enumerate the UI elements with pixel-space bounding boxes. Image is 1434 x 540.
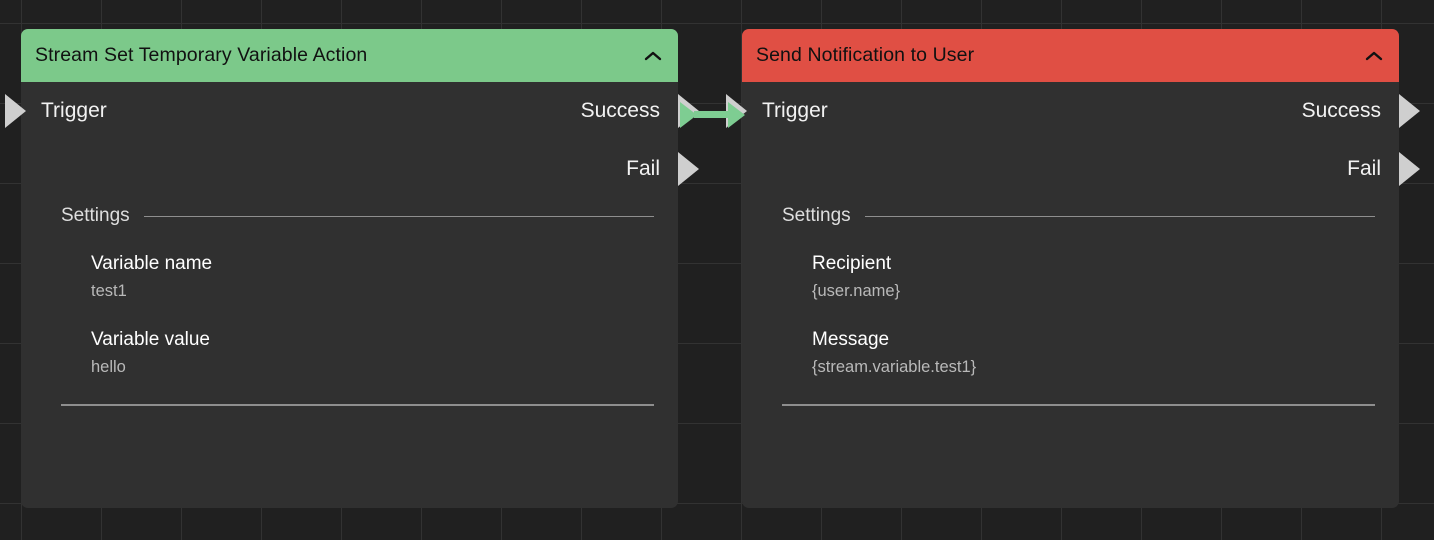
- field-label: Recipient: [812, 252, 1375, 276]
- input-port-label: Trigger: [21, 99, 107, 123]
- field-label: Variable name: [91, 252, 654, 276]
- field-value[interactable]: test1: [91, 281, 654, 302]
- node-title: Send Notification to User: [756, 44, 974, 67]
- field-value[interactable]: hello: [91, 357, 654, 378]
- settings-section-header: Settings: [21, 198, 678, 234]
- output-port-label: Success: [581, 99, 678, 123]
- chevron-up-icon[interactable]: [642, 45, 664, 67]
- divider: [144, 216, 654, 217]
- port-triangle-icon[interactable]: [678, 152, 699, 186]
- input-port-trigger[interactable]: Trigger: [21, 82, 107, 140]
- input-port-trigger[interactable]: Trigger: [742, 82, 828, 140]
- field-variable-value[interactable]: Variable value hello: [91, 328, 654, 378]
- output-port-label: Fail: [1347, 157, 1399, 181]
- settings-label: Settings: [782, 205, 851, 227]
- input-port-label: Trigger: [742, 99, 828, 123]
- port-triangle-icon[interactable]: [5, 94, 26, 128]
- divider: [865, 216, 1375, 217]
- settings-fields: Recipient {user.name} Message {stream.va…: [742, 234, 1399, 378]
- connection-source-arrow-icon: [680, 102, 697, 128]
- node-header[interactable]: Send Notification to User: [742, 29, 1399, 82]
- port-triangle-icon[interactable]: [1399, 152, 1420, 186]
- settings-section-header: Settings: [742, 198, 1399, 234]
- node-body: Trigger Success Fail Settings Re: [742, 82, 1399, 406]
- settings-label: Settings: [61, 205, 130, 227]
- node-send-notification[interactable]: Send Notification to User Trigger Succes…: [742, 29, 1399, 508]
- divider: [782, 404, 1375, 406]
- output-port-fail[interactable]: Fail: [626, 140, 678, 198]
- field-variable-name[interactable]: Variable name test1: [91, 252, 654, 302]
- port-triangle-icon[interactable]: [1399, 94, 1420, 128]
- node-title: Stream Set Temporary Variable Action: [35, 44, 367, 67]
- field-message[interactable]: Message {stream.variable.test1}: [812, 328, 1375, 378]
- node-body: Trigger Success Fail Settings: [21, 82, 678, 406]
- field-value[interactable]: {user.name}: [812, 281, 1375, 302]
- connection-target-arrow-icon: [728, 102, 745, 128]
- output-port-label: Success: [1302, 99, 1399, 123]
- divider: [61, 404, 654, 406]
- node-set-variable[interactable]: Stream Set Temporary Variable Action Tri…: [21, 29, 678, 508]
- chevron-up-icon[interactable]: [1363, 45, 1385, 67]
- field-recipient[interactable]: Recipient {user.name}: [812, 252, 1375, 302]
- field-label: Message: [812, 328, 1375, 352]
- settings-fields: Variable name test1 Variable value hello: [21, 234, 678, 378]
- node-editor-canvas[interactable]: Stream Set Temporary Variable Action Tri…: [0, 0, 1434, 540]
- node-header[interactable]: Stream Set Temporary Variable Action: [21, 29, 678, 82]
- output-port-success[interactable]: Success: [1302, 82, 1399, 140]
- field-label: Variable value: [91, 328, 654, 352]
- field-value[interactable]: {stream.variable.test1}: [812, 357, 1375, 378]
- output-port-fail[interactable]: Fail: [1347, 140, 1399, 198]
- output-port-label: Fail: [626, 157, 678, 181]
- output-port-success[interactable]: Success: [581, 82, 678, 140]
